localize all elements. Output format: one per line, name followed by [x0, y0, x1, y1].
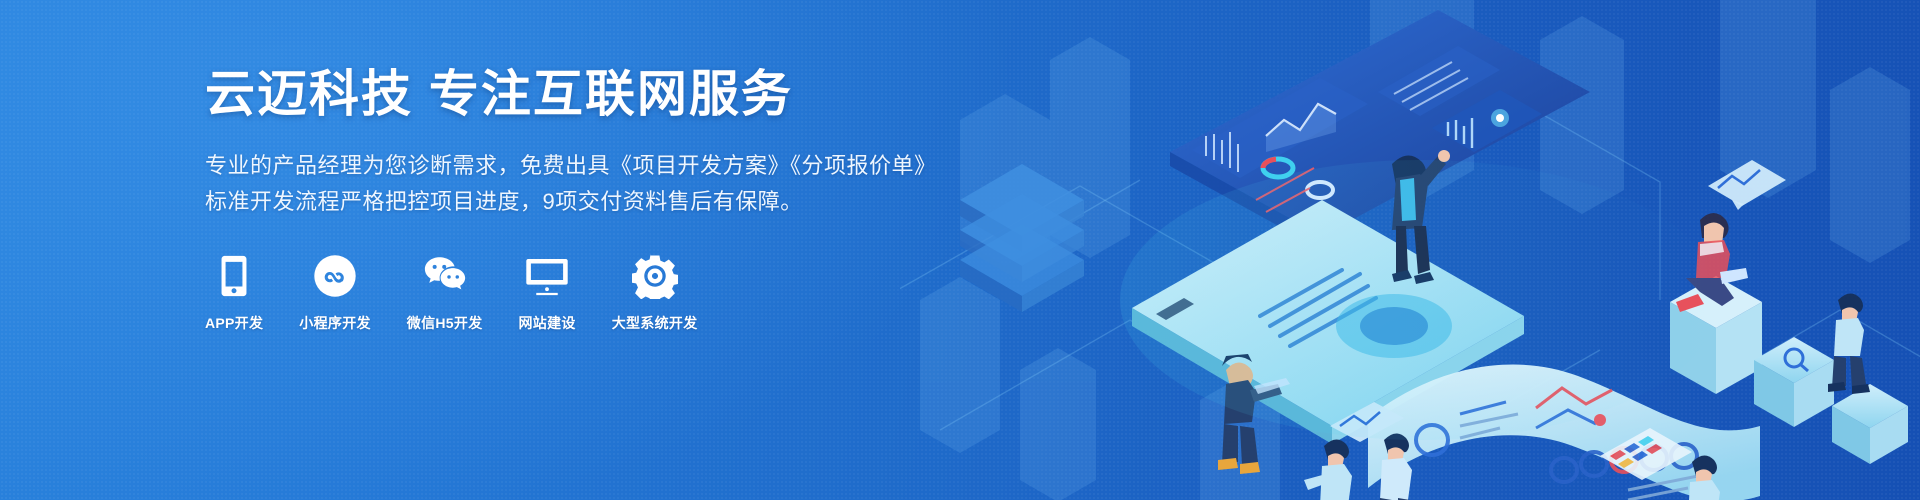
banner-content: 云迈科技 专注互联网服务 专业的产品经理为您诊断需求，免费出具《项目开发方案》《…	[205, 0, 965, 500]
service-item-app[interactable]: APP开发	[205, 253, 263, 333]
banner-headline: 云迈科技 专注互联网服务	[205, 66, 965, 122]
isometric-illustration	[900, 0, 1920, 500]
wechat-icon	[422, 253, 468, 299]
service-item-website[interactable]: 网站建设	[519, 253, 576, 333]
service-label: APP开发	[205, 313, 263, 333]
gear-icon	[632, 253, 678, 299]
mini-program-icon	[312, 253, 358, 299]
service-label: 小程序开发	[299, 313, 371, 333]
hero-banner: 云迈科技 专注互联网服务 专业的产品经理为您诊断需求，免费出具《项目开发方案》《…	[0, 0, 1920, 500]
banner-subtext-line-2: 标准开发流程严格把控项目进度，9项交付资料售后有保障。	[205, 184, 965, 220]
service-item-large-system[interactable]: 大型系统开发	[612, 253, 698, 333]
service-label: 大型系统开发	[612, 313, 698, 333]
service-item-wechat-h5[interactable]: 微信H5开发	[407, 253, 483, 333]
banner-subtext: 专业的产品经理为您诊断需求，免费出具《项目开发方案》《分项报价单》 标准开发流程…	[205, 148, 965, 219]
service-label: 网站建设	[519, 313, 576, 333]
service-label: 微信H5开发	[407, 313, 483, 333]
service-list: APP开发 小程序开发 微信H5开发 网站建设	[205, 253, 965, 333]
monitor-icon	[524, 253, 570, 299]
banner-subtext-line-1: 专业的产品经理为您诊断需求，免费出具《项目开发方案》《分项报价单》	[205, 153, 937, 178]
mobile-phone-icon	[211, 253, 257, 299]
service-item-mini-program[interactable]: 小程序开发	[299, 253, 371, 333]
